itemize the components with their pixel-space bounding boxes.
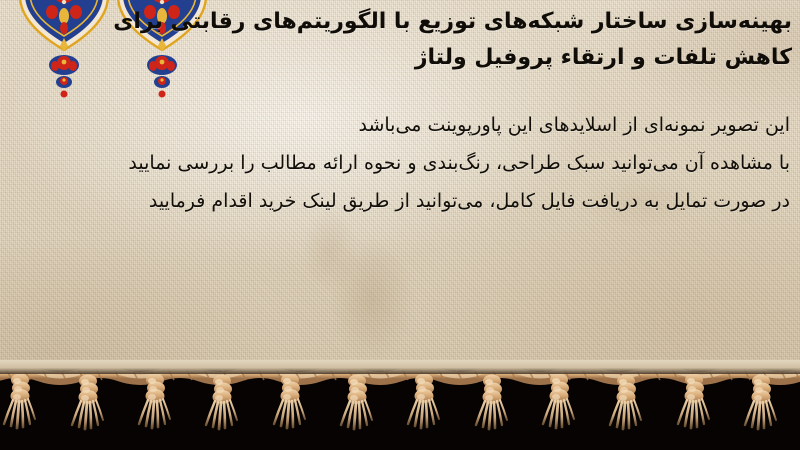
title-line-2: کاهش تلفات و ارتقاء پروفیل ولتاژ: [92, 40, 792, 76]
title-line-1: بهینه‌سازی ساختار شبکه‌های توزیع با الگو…: [92, 4, 792, 40]
text-layer: بهینه‌سازی ساختار شبکه‌های توزیع با الگو…: [0, 0, 800, 378]
carpet-fringe-tassels: [0, 366, 800, 450]
slide-body: این تصویر نمونه‌ای از اسلایدهای این پاور…: [30, 106, 790, 220]
cloth-bottom-edge: [0, 360, 800, 374]
slide-title: بهینه‌سازی ساختار شبکه‌های توزیع با الگو…: [92, 4, 792, 76]
fringe-svg: [0, 366, 800, 450]
body-line-2: با مشاهده آن می‌توانید سبک طراحی، رنگ‌بن…: [30, 144, 790, 182]
slide-canvas: بهینه‌سازی ساختار شبکه‌های توزیع با الگو…: [0, 0, 800, 450]
body-line-1: این تصویر نمونه‌ای از اسلایدهای این پاور…: [30, 106, 790, 144]
body-line-3: در صورت تمایل به دریافت فایل کامل، می‌تو…: [30, 182, 790, 220]
